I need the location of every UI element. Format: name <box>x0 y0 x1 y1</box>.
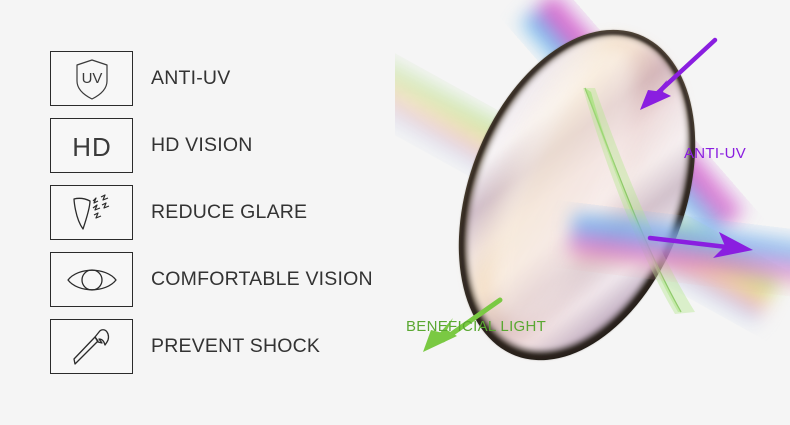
callout-beneficial-light: BENEFICIAL LIGHT <box>406 318 546 335</box>
feature-row-anti-uv[interactable]: UV ANTI-UV <box>50 50 230 107</box>
feature-label-anti-uv: ANTI-UV <box>151 67 230 90</box>
hd-text-icon: HD <box>50 118 133 173</box>
hammer-glyph <box>68 325 116 369</box>
hd-glyph: HD <box>62 126 122 166</box>
feature-row-comfortable-vision[interactable]: COMFORTABLE VISION <box>50 251 373 308</box>
uv-shield-icon: UV <box>50 51 133 106</box>
feature-label-prevent-shock: PREVENT SHOCK <box>151 335 320 358</box>
glare-leaf-icon <box>50 185 133 240</box>
hammer-icon <box>50 319 133 374</box>
eye-icon <box>50 252 133 307</box>
uv-shield-glyph: UV <box>69 56 115 102</box>
uv-letters: UV <box>81 70 102 87</box>
feature-row-reduce-glare[interactable]: REDUCE GLARE <box>50 184 307 241</box>
eye-glyph <box>64 263 120 297</box>
glare-glyph <box>66 192 118 234</box>
feature-label-comfortable-vision: COMFORTABLE VISION <box>151 268 373 291</box>
coated-lens-diagram <box>395 0 790 425</box>
feature-label-reduce-glare: REDUCE GLARE <box>151 201 307 224</box>
feature-label-hd-vision: HD VISION <box>151 134 252 157</box>
illustration-stage: UV ANTI-UV HD HD VISION <box>0 0 790 425</box>
feature-row-prevent-shock[interactable]: PREVENT SHOCK <box>50 318 320 375</box>
lens-diagram-svg <box>395 0 790 425</box>
callout-anti-uv: ANTI-UV <box>684 145 746 162</box>
feature-row-hd-vision[interactable]: HD HD VISION <box>50 117 252 174</box>
hd-letters: HD <box>72 132 112 162</box>
